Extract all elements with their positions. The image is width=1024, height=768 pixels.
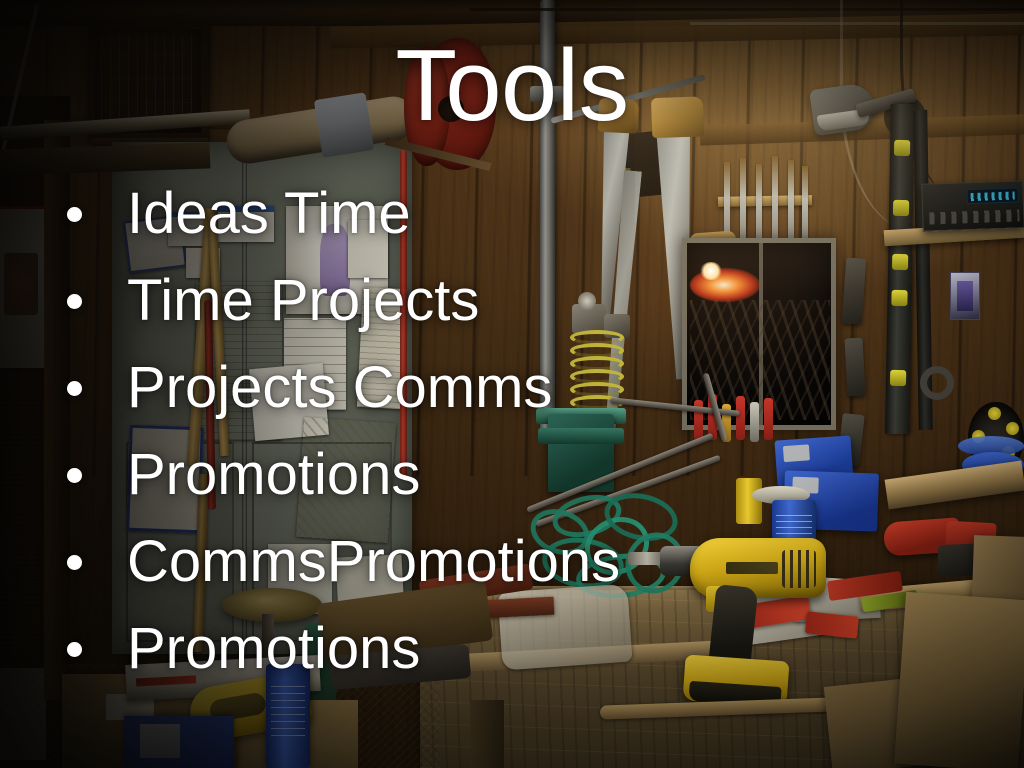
slide-content: Tools Ideas Time Time Projects Projects … — [0, 0, 1024, 768]
bullet-label: Projects Comms — [127, 359, 552, 417]
bullet-item-3: Projects Comms — [60, 344, 1000, 431]
bullet-label: Time Projects — [127, 272, 479, 330]
presentation-slide: Tools Ideas Time Time Projects Projects … — [0, 0, 1024, 768]
bullet-label: Promotions — [127, 620, 420, 678]
bullet-label: Ideas Time — [127, 185, 411, 243]
bullet-label: CommsPromotions — [127, 533, 620, 591]
bullet-item-5: CommsPromotions — [60, 518, 1000, 605]
bullet-item-6: Promotions — [60, 605, 1000, 692]
bullet-item-4: Promotions — [60, 431, 1000, 518]
bullet-item-1: Ideas Time — [60, 170, 1000, 257]
slide-title: Tools — [0, 36, 1024, 137]
bullet-list: Ideas Time Time Projects Projects Comms … — [60, 170, 1000, 692]
bullet-label: Promotions — [127, 446, 420, 504]
bullet-item-2: Time Projects — [60, 257, 1000, 344]
